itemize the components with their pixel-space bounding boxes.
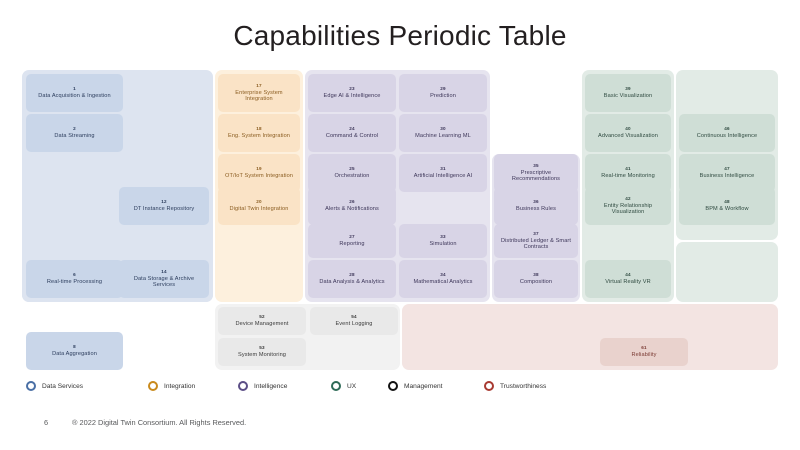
cell-number: 31 (440, 166, 446, 171)
legend-label: UX (347, 383, 356, 390)
cell-label: Virtual Reality VR (605, 279, 651, 285)
cell-number: 19 (256, 166, 262, 171)
slide: Capabilities Periodic Table 1 Data Acqui… (0, 0, 800, 450)
cell-label: Command & Control (326, 133, 378, 139)
capability-cell[interactable]: 40 Advanced Visualization (585, 114, 671, 152)
cell-number: 29 (440, 86, 446, 91)
circle-icon (388, 381, 398, 391)
cell-number: 61 (641, 345, 647, 350)
cell-number: 42 (625, 196, 631, 201)
cell-number: 46 (724, 126, 730, 131)
periodic-table-board: 1 Data Acquisition & Ingestion 2 Data St… (22, 70, 778, 370)
legend-item-integration[interactable]: Integration (148, 381, 195, 391)
cell-label: Device Management (235, 321, 288, 327)
cell-label: Data Aggregation (52, 351, 97, 357)
cell-number: 18 (256, 126, 262, 131)
capability-cell[interactable]: 52 Device Management (218, 307, 306, 335)
capability-cell[interactable]: 42 Entity Relationship Visualization (585, 187, 671, 225)
legend-item-data-services[interactable]: Data Services (26, 381, 83, 391)
cell-label: Advanced Visualization (598, 133, 658, 139)
cell-label: OT/IoT System Integration (225, 173, 293, 179)
capability-cell[interactable]: 27 Reporting (308, 224, 396, 258)
capability-cell[interactable]: 38 Composition (494, 260, 578, 298)
cell-number: 27 (349, 234, 355, 239)
legend-item-intelligence[interactable]: Intelligence (238, 381, 287, 391)
cell-number: 14 (161, 269, 167, 274)
cell-label: BPM & Workflow (705, 206, 748, 212)
capability-cell[interactable]: 20 Digital Twin Integration (218, 187, 300, 225)
circle-icon (26, 381, 36, 391)
capability-cell[interactable]: 53 System Monitoring (218, 338, 306, 366)
cell-label: Edge AI & Intelligence (324, 93, 381, 99)
cell-number: 40 (625, 126, 631, 131)
cell-number: 17 (256, 83, 262, 88)
capability-cell[interactable]: 26 Alerts & Notifications (308, 187, 396, 225)
cell-label: Data Streaming (54, 133, 94, 139)
cell-label: Continuous Intelligence (697, 133, 757, 139)
cell-number: 35 (533, 163, 539, 168)
cell-number: 23 (349, 86, 355, 91)
cell-label: Event Logging (335, 321, 372, 327)
cell-number: 26 (349, 199, 355, 204)
capability-cell[interactable]: 33 Simulation (399, 224, 487, 258)
cell-number: 38 (533, 272, 539, 277)
capability-cell[interactable]: 1 Data Acquisition & Ingestion (26, 74, 123, 112)
copyright-text: ® 2022 Digital Twin Consortium. All Righ… (72, 418, 246, 427)
capability-cell[interactable]: 8 Data Aggregation (26, 332, 123, 370)
cell-label: Reporting (339, 241, 364, 247)
page-title: Capabilities Periodic Table (0, 20, 800, 52)
cell-label: Business Rules (516, 206, 556, 212)
cell-label: Data Analysis & Analytics (319, 279, 384, 285)
cell-number: 53 (259, 345, 265, 350)
cell-number: 2 (73, 126, 76, 131)
cell-number: 41 (625, 166, 631, 171)
capability-cell[interactable]: 48 BPM & Workflow (679, 187, 775, 225)
capability-cell[interactable]: 30 Machine Learning ML (399, 114, 487, 152)
footer: 6® 2022 Digital Twin Consortium. All Rig… (44, 418, 246, 427)
cell-label: Alerts & Notifications (325, 206, 379, 212)
legend-label: Integration (164, 383, 195, 390)
cell-label: Prescriptive Recommendations (497, 170, 575, 183)
cell-number: 52 (259, 314, 265, 319)
circle-icon (484, 381, 494, 391)
capability-cell[interactable]: 36 Business Rules (494, 187, 578, 225)
capability-cell[interactable]: 34 Mathematical Analytics (399, 260, 487, 298)
cell-number: 48 (724, 199, 730, 204)
cell-label: Simulation (429, 241, 456, 247)
cell-number: 20 (256, 199, 262, 204)
legend: Data Services Integration Intelligence U… (26, 381, 766, 399)
cell-label: Digital Twin Integration (230, 206, 289, 212)
legend-label: Management (404, 383, 443, 390)
capability-cell[interactable]: 12 DT Instance Repository (119, 187, 209, 225)
cell-label: Orchestration (335, 173, 370, 179)
cell-number: 36 (533, 199, 539, 204)
capability-cell[interactable]: 17 Enterprise System Integration (218, 74, 300, 112)
region-ux-lower (676, 242, 778, 302)
legend-item-management[interactable]: Management (388, 381, 443, 391)
cell-label: Real-time Monitoring (601, 173, 655, 179)
cell-label: Composition (520, 279, 552, 285)
legend-label: Data Services (42, 383, 83, 390)
cell-label: Machine Learning ML (415, 133, 471, 139)
cell-label: Basic Visualization (604, 93, 652, 99)
circle-icon (148, 381, 158, 391)
cell-label: Mathematical Analytics (413, 279, 472, 285)
capability-cell[interactable]: 29 Prediction (399, 74, 487, 112)
cell-number: 6 (73, 272, 76, 277)
cell-label: Prediction (430, 93, 456, 99)
capability-cell[interactable]: 37 Distributed Ledger & Smart Contracts (494, 224, 578, 258)
cell-label: Data Acquisition & Ingestion (38, 93, 110, 99)
circle-icon (331, 381, 341, 391)
legend-item-trustworthiness[interactable]: Trustworthiness (484, 381, 546, 391)
legend-label: Intelligence (254, 383, 287, 390)
cell-number: 54 (351, 314, 357, 319)
cell-number: 39 (625, 86, 631, 91)
cell-number: 12 (161, 199, 167, 204)
cell-label: Reliability (631, 352, 656, 358)
page-number: 6 (44, 418, 72, 427)
cell-label: Eng. System Integration (228, 133, 290, 139)
capability-cell[interactable]: 23 Edge AI & Intelligence (308, 74, 396, 112)
cell-number: 33 (440, 234, 446, 239)
capability-cell[interactable]: 14 Data Storage & Archive Services (119, 260, 209, 298)
capability-cell[interactable]: 54 Event Logging (310, 307, 398, 335)
cell-number: 34 (440, 272, 446, 277)
region-trustworthiness (402, 304, 778, 370)
capability-cell[interactable]: 28 Data Analysis & Analytics (308, 260, 396, 298)
circle-icon (238, 381, 248, 391)
cell-number: 30 (440, 126, 446, 131)
cell-number: 8 (73, 344, 76, 349)
cell-number: 1 (73, 86, 76, 91)
legend-label: Trustworthiness (500, 383, 546, 390)
capability-cell[interactable]: 46 Continuous Intelligence (679, 114, 775, 152)
cell-label: Distributed Ledger & Smart Contracts (497, 238, 575, 251)
cell-label: Artificial Intelligence AI (414, 173, 473, 179)
cell-label: System Monitoring (238, 352, 286, 358)
cell-number: 44 (625, 272, 631, 277)
capability-cell[interactable]: 39 Basic Visualization (585, 74, 671, 112)
cell-number: 47 (724, 166, 730, 171)
capability-cell[interactable]: 61 Reliability (600, 338, 688, 366)
cell-label: Data Storage & Archive Services (122, 276, 206, 289)
capability-cell[interactable]: 24 Command & Control (308, 114, 396, 152)
capability-cell[interactable]: 2 Data Streaming (26, 114, 123, 152)
cell-number: 25 (349, 166, 355, 171)
cell-number: 37 (533, 231, 539, 236)
capability-cell[interactable]: 6 Real-time Processing (26, 260, 123, 298)
cell-label: Business Intelligence (700, 173, 755, 179)
capability-cell[interactable]: 44 Virtual Reality VR (585, 260, 671, 298)
cell-label: DT Instance Repository (134, 206, 195, 212)
legend-item-ux[interactable]: UX (331, 381, 356, 391)
cell-label: Entity Relationship Visualization (588, 203, 668, 216)
cell-label: Enterprise System Integration (221, 90, 297, 103)
capability-cell[interactable]: 18 Eng. System Integration (218, 114, 300, 152)
cell-label: Real-time Processing (47, 279, 102, 285)
capability-cell[interactable]: 31 Artificial Intelligence AI (399, 154, 487, 192)
cell-number: 24 (349, 126, 355, 131)
cell-number: 28 (349, 272, 355, 277)
